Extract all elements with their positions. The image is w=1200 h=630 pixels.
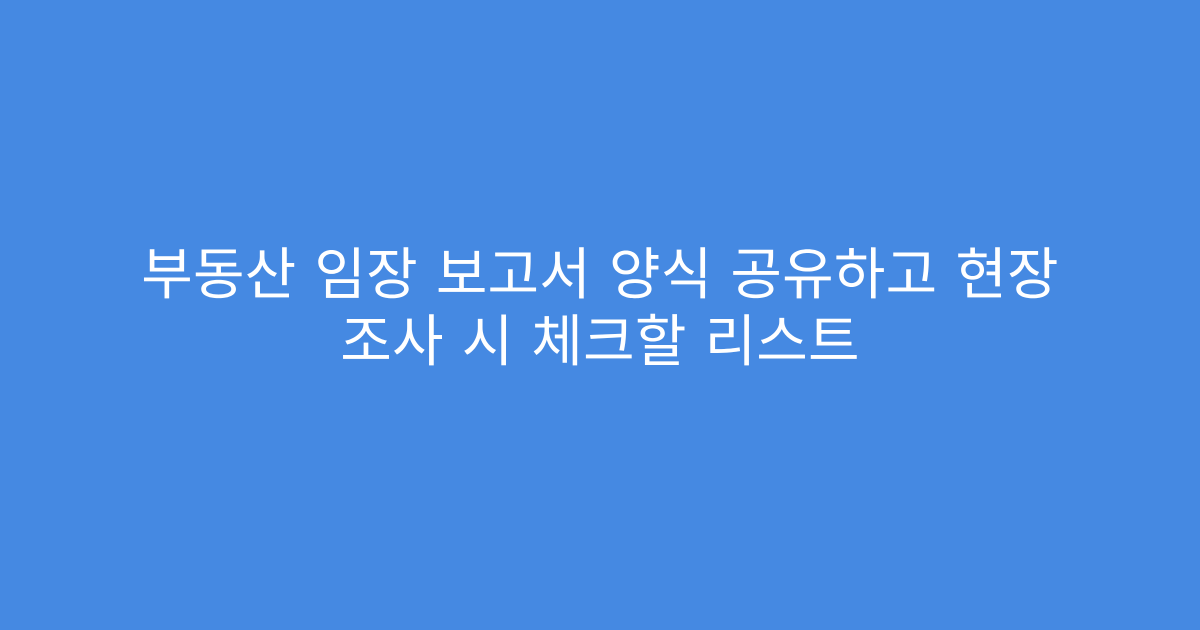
title-block: 부동산 임장 보고서 양식 공유하고 현장 조사 시 체크할 리스트 (96, 242, 1104, 376)
og-title-card: 부동산 임장 보고서 양식 공유하고 현장 조사 시 체크할 리스트 (0, 0, 1200, 630)
page-title: 부동산 임장 보고서 양식 공유하고 현장 조사 시 체크할 리스트 (96, 242, 1104, 376)
